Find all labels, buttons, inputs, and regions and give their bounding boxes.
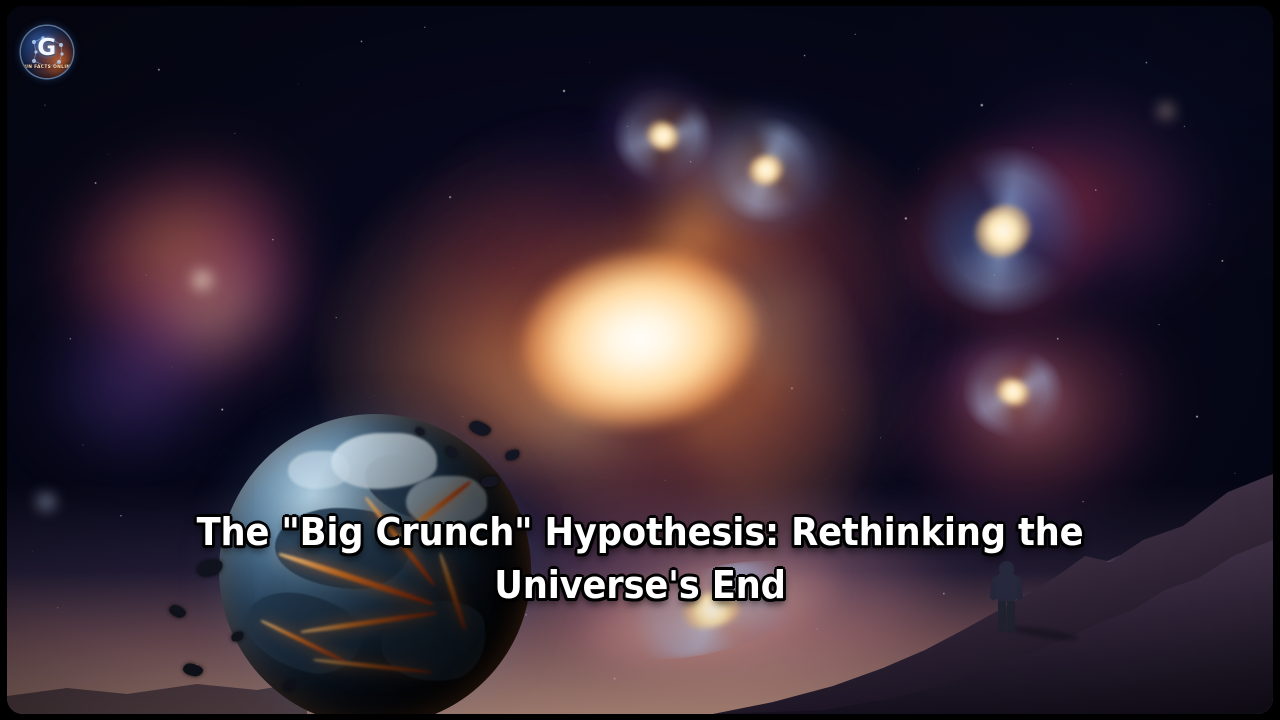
- logo-monogram: G: [21, 37, 73, 60]
- star-glow-nebula: [187, 268, 217, 292]
- astronaut-helmet: [999, 561, 1014, 576]
- astronaut-leg-right: [1007, 599, 1015, 633]
- nebula-left-lower: [37, 306, 217, 466]
- cracked-planet: [219, 414, 531, 714]
- planet-debris: [504, 447, 522, 462]
- fun-facts-online-logo-icon[interactable]: G FUN FACTS ONLINE: [21, 26, 73, 78]
- planet-rim-light: [219, 414, 531, 714]
- hero-image-canvas: G FUN FACTS ONLINE The "Big Crunch" Hypo…: [0, 0, 1280, 720]
- image-frame: G FUN FACTS ONLINE The "Big Crunch" Hypo…: [7, 6, 1273, 714]
- logo-tagline: FUN FACTS ONLINE: [21, 65, 73, 70]
- star-glow-right: [1155, 102, 1177, 120]
- astronaut-torso: [996, 573, 1017, 601]
- planet-debris: [468, 419, 493, 438]
- planet-sphere: [219, 414, 531, 714]
- astronaut-leg-left: [998, 599, 1006, 633]
- astronaut-silhouette: [991, 561, 1021, 635]
